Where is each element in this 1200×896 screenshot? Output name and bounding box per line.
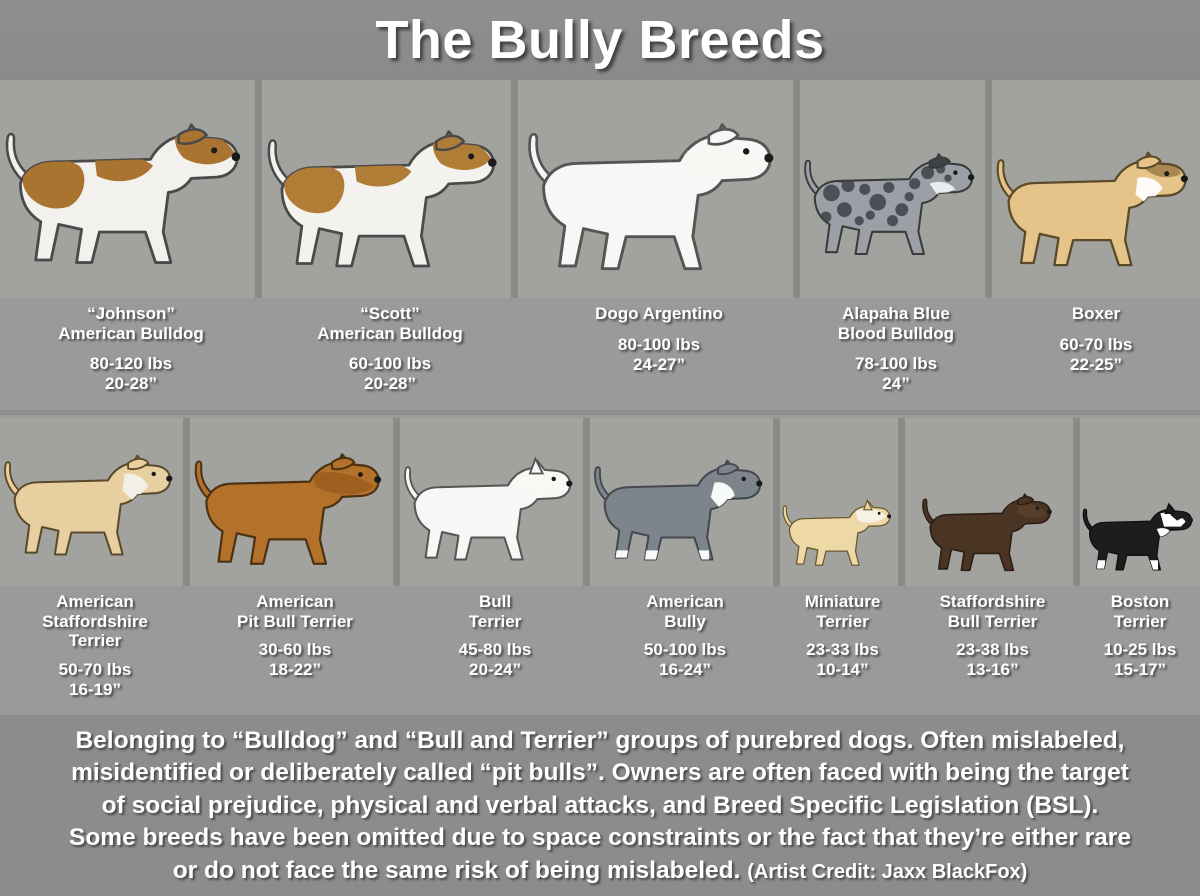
dog-nose bbox=[968, 174, 974, 180]
breed-panel[interactable] bbox=[905, 418, 1080, 586]
blue-american-bully-illustration bbox=[590, 436, 773, 586]
dog-eye bbox=[468, 153, 474, 159]
white-brown-patched-bulldog-illustration bbox=[0, 92, 255, 298]
row-2-captions: American Staffordshire Terrier50-70 lbs1… bbox=[0, 588, 1200, 716]
breed-stats: 60-70 lbs22-25” bbox=[992, 335, 1200, 376]
breed-name: “Scott” American Bulldog bbox=[262, 304, 518, 343]
breed-name: Dogo Argentino bbox=[518, 304, 800, 324]
breed-stats: 10-25 lbs15-17” bbox=[1080, 640, 1200, 681]
breed-stats: 60-100 lbs20-28” bbox=[262, 354, 518, 395]
breed-weight: 10-25 lbs bbox=[1080, 640, 1200, 660]
breed-panel[interactable] bbox=[992, 80, 1200, 298]
fawn-boxer-illustration bbox=[992, 122, 1200, 298]
breed-height: 15-17” bbox=[1080, 660, 1200, 680]
breed-weight: 50-100 lbs bbox=[590, 640, 780, 660]
tan-miniature-bull-terrier-illustration bbox=[780, 482, 898, 586]
dog-eye bbox=[211, 147, 217, 153]
dog-body bbox=[15, 456, 171, 555]
breed-weight: 80-100 lbs bbox=[518, 335, 800, 355]
breed-stats: 45-80 lbs20-24” bbox=[400, 640, 590, 681]
breed-name: Bull Terrier bbox=[400, 592, 590, 631]
breed-name: Staffordshire Bull Terrier bbox=[905, 592, 1080, 631]
breed-name: Boxer bbox=[992, 304, 1200, 324]
dog-body bbox=[605, 461, 761, 560]
breed-height: 24” bbox=[800, 374, 992, 394]
breed-height: 16-19” bbox=[0, 680, 190, 700]
breed-caption: “Johnson” American Bulldog80-120 lbs20-2… bbox=[0, 300, 262, 412]
breed-height: 24-27” bbox=[518, 355, 800, 375]
breed-height: 13-16” bbox=[905, 660, 1080, 680]
breed-caption: “Scott” American Bulldog60-100 lbs20-28” bbox=[262, 300, 518, 412]
dog-nose bbox=[374, 476, 381, 483]
dog-body bbox=[544, 125, 771, 269]
dog-body bbox=[206, 454, 378, 563]
white-bull-terrier-illustration bbox=[400, 436, 583, 586]
all-white-dogo-illustration bbox=[522, 98, 789, 298]
breed-panel[interactable] bbox=[400, 418, 590, 586]
breed-caption: American Pit Bull Terrier30-60 lbs18-22” bbox=[190, 588, 400, 716]
dog-eye bbox=[742, 477, 746, 481]
footer-line-text: or do not face the same risk of being mi… bbox=[173, 857, 741, 884]
dog-nose bbox=[488, 158, 496, 166]
breed-name: American Staffordshire Terrier bbox=[0, 592, 190, 651]
breed-height: 16-24” bbox=[590, 660, 780, 680]
breed-stats: 78-100 lbs24” bbox=[800, 354, 992, 395]
breed-panel[interactable] bbox=[800, 80, 992, 298]
breed-name: American Pit Bull Terrier bbox=[190, 592, 400, 631]
breed-panel[interactable] bbox=[518, 80, 800, 298]
breed-name: Boston Terrier bbox=[1080, 592, 1200, 631]
breed-name: Miniature Terrier bbox=[780, 592, 905, 631]
white-brown-patched-bulldog-slim-illustration bbox=[262, 102, 511, 298]
breed-stats: 30-60 lbs18-22” bbox=[190, 640, 400, 681]
bully-breeds-infographic: The Bully Breeds “Johnson” American Bull… bbox=[0, 0, 1200, 896]
row-1-panels bbox=[0, 80, 1200, 298]
breed-caption: Boston Terrier10-25 lbs15-17” bbox=[1080, 588, 1200, 716]
breed-height: 22-25” bbox=[992, 355, 1200, 375]
dog-eye bbox=[953, 170, 957, 174]
page-title: The Bully Breeds bbox=[375, 9, 824, 71]
breed-stats: 50-70 lbs16-19” bbox=[0, 660, 190, 701]
breed-panel[interactable] bbox=[590, 418, 780, 586]
breed-height: 20-24” bbox=[400, 660, 590, 680]
artist-credit: (Artist Credit: Jaxx BlackFox) bbox=[747, 861, 1027, 883]
breed-panel[interactable] bbox=[262, 80, 518, 298]
dog-eye bbox=[1164, 171, 1169, 176]
breed-caption: Staffordshire Bull Terrier23-38 lbs13-16… bbox=[905, 588, 1080, 716]
breed-weight: 45-80 lbs bbox=[400, 640, 590, 660]
breed-stats: 80-100 lbs24-27” bbox=[518, 335, 800, 376]
breed-weight: 80-120 lbs bbox=[0, 354, 262, 374]
fawn-amstaff-illustration bbox=[0, 426, 183, 586]
breed-caption: Boxer60-70 lbs22-25” bbox=[992, 300, 1200, 412]
dog-eye bbox=[552, 477, 556, 481]
footer-line: Belonging to “Bulldog” and “Bull and Ter… bbox=[75, 725, 1124, 758]
row-1-captions: “Johnson” American Bulldog80-120 lbs20-2… bbox=[0, 300, 1200, 412]
breed-weight: 30-60 lbs bbox=[190, 640, 400, 660]
black-white-boston-terrier-illustration bbox=[1080, 490, 1200, 586]
breed-caption: Bull Terrier45-80 lbs20-24” bbox=[400, 588, 590, 716]
footer-last-line: or do not face the same risk of being mi… bbox=[173, 855, 1028, 888]
breed-height: 18-22” bbox=[190, 660, 400, 680]
red-pitbull-illustration bbox=[190, 434, 393, 586]
breed-stats: 50-100 lbs16-24” bbox=[590, 640, 780, 681]
dog-eye bbox=[152, 472, 156, 476]
breed-caption: American Staffordshire Terrier50-70 lbs1… bbox=[0, 588, 190, 716]
title-band: The Bully Breeds bbox=[0, 0, 1200, 80]
breed-weight: 23-38 lbs bbox=[905, 640, 1080, 660]
dog-nose bbox=[756, 480, 762, 486]
breed-weight: 23-33 lbs bbox=[780, 640, 905, 660]
dog-nose bbox=[764, 153, 773, 162]
breed-panel[interactable] bbox=[0, 418, 190, 586]
dog-eye bbox=[743, 148, 749, 154]
breed-height: 20-28” bbox=[0, 374, 262, 394]
breed-panel[interactable] bbox=[1080, 418, 1200, 586]
dog-body bbox=[815, 154, 972, 254]
footer-note: Belonging to “Bulldog” and “Bull and Ter… bbox=[0, 716, 1200, 896]
breed-panel[interactable] bbox=[190, 418, 400, 586]
breed-height: 10-14” bbox=[780, 660, 905, 680]
breed-weight: 50-70 lbs bbox=[0, 660, 190, 680]
footer-line: of social prejudice, physical and verbal… bbox=[102, 790, 1099, 823]
breed-panel[interactable] bbox=[0, 80, 262, 298]
breed-stats: 23-38 lbs13-16” bbox=[905, 640, 1080, 681]
breed-name: American Bully bbox=[590, 592, 780, 631]
breed-caption: Alapaha Blue Blood Bulldog78-100 lbs24” bbox=[800, 300, 992, 412]
breed-caption: Miniature Terrier23-33 lbs10-14” bbox=[780, 588, 905, 716]
dog-eye bbox=[878, 512, 881, 515]
dog-nose bbox=[1181, 175, 1188, 182]
breed-weight: 60-70 lbs bbox=[992, 335, 1200, 355]
dark-brown-staffy-illustration bbox=[919, 480, 1060, 586]
dog-nose bbox=[1189, 518, 1193, 522]
dog-nose bbox=[1047, 509, 1052, 514]
breed-height: 20-28” bbox=[262, 374, 518, 394]
row-2-panels bbox=[0, 418, 1200, 586]
breed-weight: 60-100 lbs bbox=[262, 354, 518, 374]
dog-eye bbox=[1179, 516, 1182, 519]
breed-caption: American Bully50-100 lbs16-24” bbox=[590, 588, 780, 716]
dog-eye bbox=[358, 472, 363, 477]
breed-stats: 23-33 lbs10-14” bbox=[780, 640, 905, 681]
dog-nose bbox=[166, 475, 172, 481]
footer-line: misidentified or deliberately called “pi… bbox=[71, 757, 1129, 790]
dog-eye bbox=[1035, 507, 1038, 510]
breed-name: Alapaha Blue Blood Bulldog bbox=[800, 304, 992, 343]
dog-nose bbox=[887, 514, 891, 518]
breed-stats: 80-120 lbs20-28” bbox=[0, 354, 262, 395]
dog-nose bbox=[566, 480, 572, 486]
merle-spotted-bulldog-illustration bbox=[800, 112, 985, 298]
breed-caption: Dogo Argentino80-100 lbs24-27” bbox=[518, 300, 800, 412]
dog-nose bbox=[232, 152, 241, 161]
breed-weight: 78-100 lbs bbox=[800, 354, 992, 374]
breed-panel[interactable] bbox=[780, 418, 905, 586]
footer-line: Some breeds have been omitted due to spa… bbox=[69, 822, 1131, 855]
breed-name: “Johnson” American Bulldog bbox=[0, 304, 262, 343]
